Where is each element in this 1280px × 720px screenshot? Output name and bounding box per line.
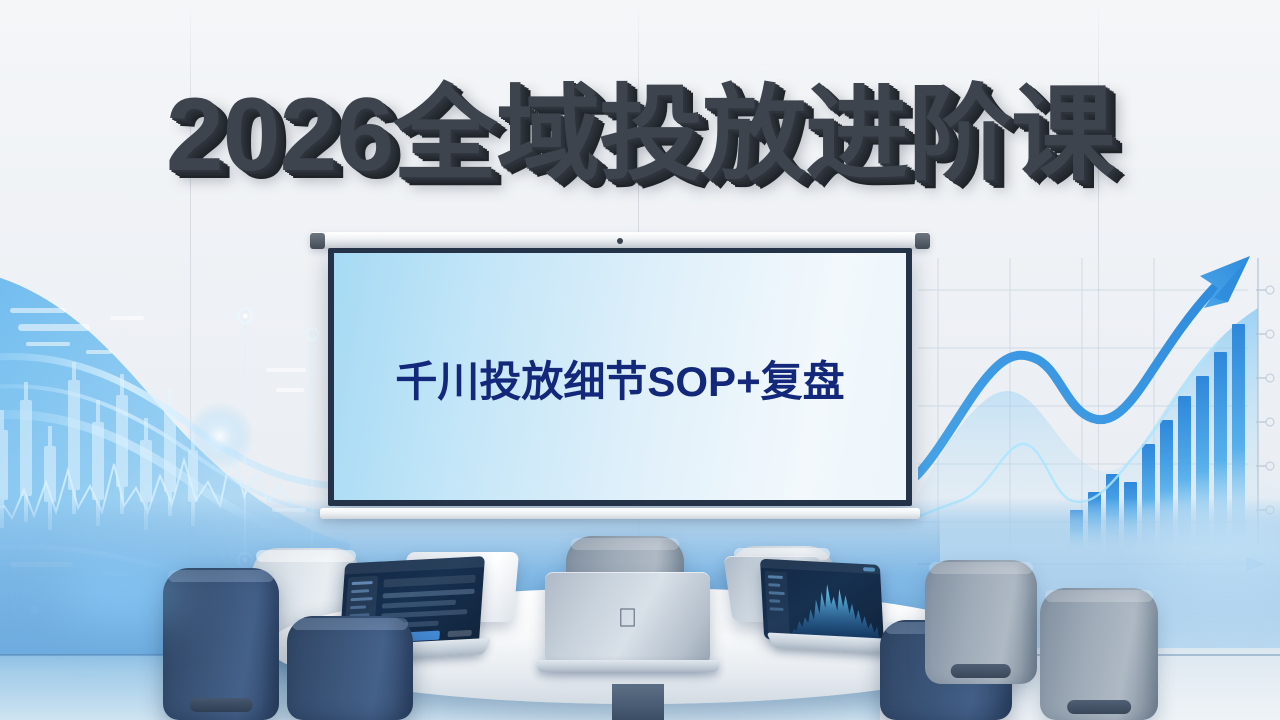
- poster-stage: 10 B 200 2026全域投放进阶课 千川投放细节SOP+复盘: [0, 0, 1280, 720]
- page-title: 2026全域投放进阶课: [0, 72, 1280, 197]
- projection-screen: 千川投放细节SOP+复盘: [310, 232, 930, 527]
- screen-bottom-bar: [320, 508, 920, 519]
- roller-endcap-left: [310, 233, 325, 249]
- chair-rim: [168, 570, 275, 582]
- screen-roller-bar: [310, 232, 930, 249]
- laptop-center-apple: : [545, 572, 710, 664]
- chair-base: [190, 698, 253, 712]
- apple-logo-icon: : [618, 604, 638, 630]
- headline-text: 2026全域投放进阶课: [166, 83, 1114, 187]
- screen-frame: 千川投放细节SOP+复盘: [328, 248, 912, 506]
- screen-title-text: 千川投放细节SOP+复盘: [395, 348, 844, 409]
- chair-rim: [292, 618, 408, 630]
- chair-far-right: [1040, 588, 1158, 720]
- chair-rim: [256, 550, 355, 562]
- chair-base: [1067, 700, 1131, 714]
- chair-front-center-left: [287, 616, 413, 720]
- chair-rim: [1045, 590, 1154, 602]
- chair-base: [951, 664, 1011, 678]
- roller-center-dot: [617, 238, 623, 244]
- chair-rim: [929, 562, 1032, 574]
- table-leg: [612, 684, 664, 720]
- laptop-center-base: [537, 660, 719, 672]
- chair-front-right: [925, 560, 1037, 684]
- screen-surface: 千川投放细节SOP+复盘: [334, 253, 906, 500]
- laptop-lid: : [545, 572, 710, 664]
- chair-rim: [571, 538, 680, 550]
- roller-endcap-right: [915, 233, 930, 249]
- chair-backrest: [287, 616, 413, 720]
- chair-front-left: [163, 568, 279, 720]
